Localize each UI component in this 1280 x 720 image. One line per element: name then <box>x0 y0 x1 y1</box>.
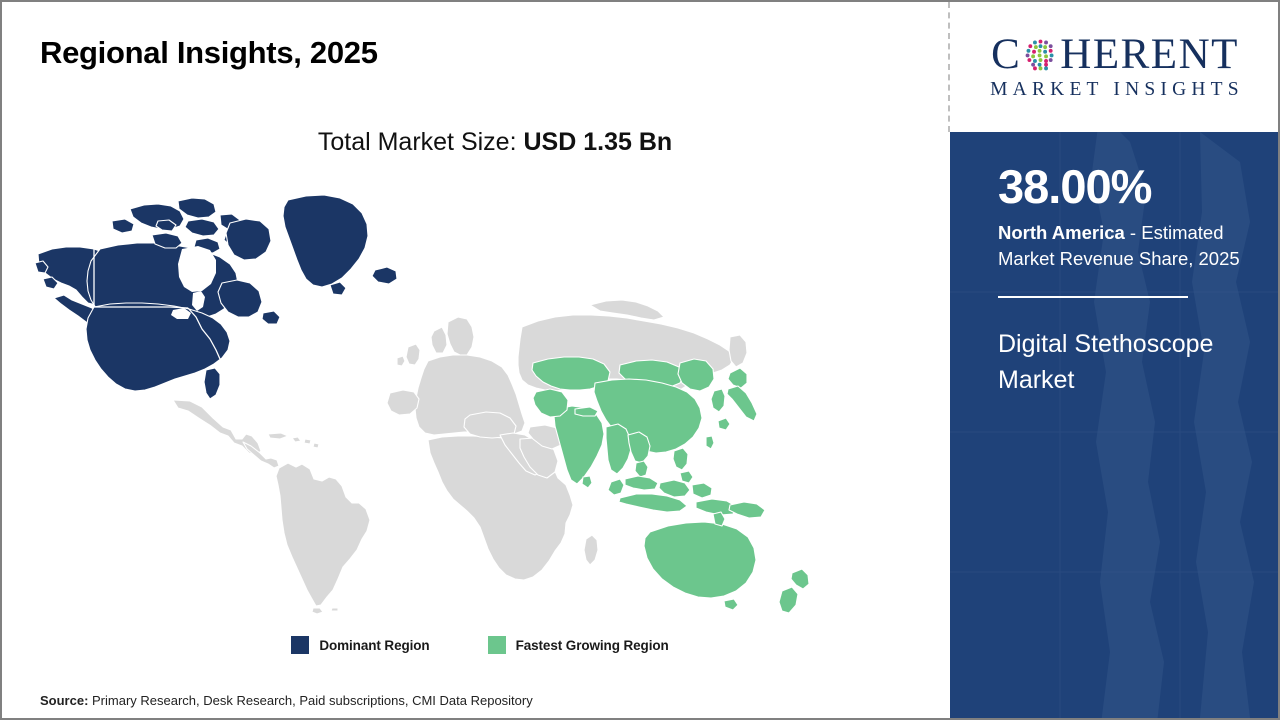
brand-logo: C <box>950 2 1280 132</box>
source-value: Primary Research, Desk Research, Paid su… <box>92 693 533 708</box>
legend-label-fastest-growing: Fastest Growing Region <box>516 638 669 653</box>
world-map-container <box>30 187 840 617</box>
infographic-root: Regional Insights, 2025 Total Market Siz… <box>0 0 1280 720</box>
map-legend: Dominant Region Fastest Growing Region <box>2 636 948 654</box>
world-map <box>30 187 840 617</box>
market-name: Digital Stethoscope Market <box>998 327 1260 398</box>
stat-panel-content: 38.00% North America - Estimated Market … <box>998 162 1260 398</box>
stat-region-name: North America <box>998 222 1125 243</box>
stat-percentage: 38.00% <box>998 162 1260 213</box>
market-size-label: Total Market Size: <box>318 128 524 156</box>
total-market-size: Total Market Size: USD 1.35 Bn <box>2 128 948 157</box>
legend-swatch-dominant <box>291 636 309 654</box>
legend-swatch-fastest-growing <box>488 636 506 654</box>
logo-word-right: HERENT <box>1060 33 1239 76</box>
legend-item-fastest-growing: Fastest Growing Region <box>488 636 669 654</box>
source-line: Source: Primary Research, Desk Research,… <box>40 693 533 708</box>
logo-word-left: C <box>991 33 1021 76</box>
stat-divider-rule <box>998 296 1188 298</box>
market-size-value: USD 1.35 Bn <box>523 128 672 156</box>
logo-block: C <box>965 33 1265 101</box>
stat-panel: 38.00% North America - Estimated Market … <box>950 132 1280 718</box>
dotted-globe-icon <box>1022 36 1059 73</box>
page-title: Regional Insights, 2025 <box>40 35 378 71</box>
legend-item-dominant: Dominant Region <box>291 636 429 654</box>
legend-label-dominant: Dominant Region <box>319 638 429 653</box>
stat-description: North America - Estimated Market Revenue… <box>998 220 1260 273</box>
source-key: Source: <box>40 693 92 708</box>
logo-wordmark: C <box>965 33 1265 76</box>
logo-tagline: MARKET INSIGHTS <box>965 79 1265 101</box>
map-region-fastest-growing <box>532 357 809 613</box>
map-region-dominant <box>35 195 397 399</box>
left-panel: Regional Insights, 2025 Total Market Siz… <box>2 2 948 718</box>
